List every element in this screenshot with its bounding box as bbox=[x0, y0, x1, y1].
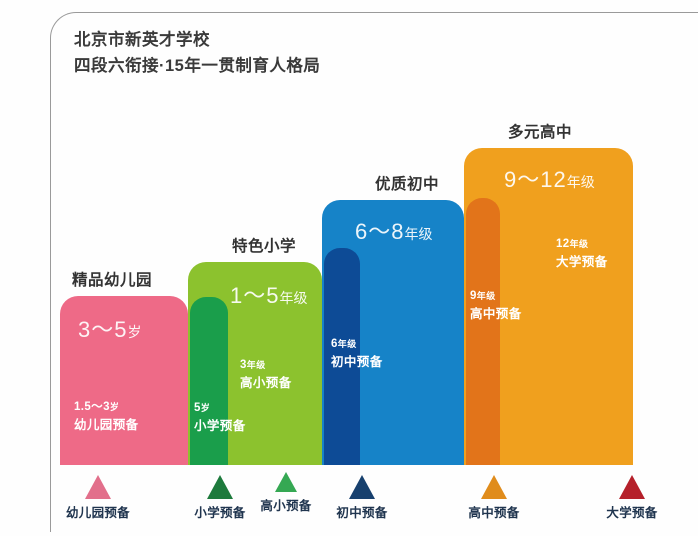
stage-note-grade-kindergarten: 1.5～3岁 bbox=[74, 399, 139, 416]
stage-note-label-kindergarten: 幼儿园预备 bbox=[74, 416, 139, 434]
stage-range-kindergarten: 3～5岁 bbox=[78, 312, 141, 344]
stage-heading-high: 多元高中 bbox=[508, 120, 572, 142]
prep-note-middle: 6年级 初中预备 bbox=[331, 336, 383, 371]
stage-range-unit-middle: 年级 bbox=[404, 226, 432, 242]
stage-range-value-high: 9～12 bbox=[504, 167, 567, 192]
marker-label-university-prep: 大学预备 bbox=[566, 502, 698, 521]
stage-range-unit-high: 年级 bbox=[567, 174, 595, 190]
triangle-icon-university-prep bbox=[619, 475, 645, 499]
triangle-icon-kindergarten-prep bbox=[85, 475, 111, 499]
stage-range-middle: 6～8年级 bbox=[355, 214, 432, 246]
title-line-school: 北京市新英才学校 bbox=[74, 28, 320, 54]
marker-high-prep[interactable]: 高中预备 bbox=[404, 475, 584, 521]
stage-range-unit-kindergarten: 岁 bbox=[127, 324, 141, 340]
stage-bar-kindergarten: 3～5岁 1.5～3岁 幼儿园预备 bbox=[60, 296, 188, 465]
prep-note-high: 9年级 高中预备 bbox=[470, 288, 522, 323]
triangle-icon-high-prep bbox=[481, 475, 507, 499]
stage-note-grade-high: 12年级 bbox=[556, 236, 608, 253]
stage-note-label-primary: 高小预备 bbox=[240, 374, 292, 392]
prep-note-grade-high: 9年级 bbox=[470, 288, 522, 305]
stage-range-value-kindergarten: 3～5 bbox=[78, 317, 127, 342]
triangle-icon-middle-prep bbox=[349, 475, 375, 499]
stage-range-high: 9～12年级 bbox=[504, 162, 595, 194]
prep-note-grade-primary: 5岁 bbox=[194, 400, 246, 417]
stage-note-primary: 3年级 高小预备 bbox=[240, 357, 292, 392]
stage-note-kindergarten: 1.5～3岁 幼儿园预备 bbox=[74, 399, 139, 434]
stage-range-primary: 1～5年级 bbox=[230, 278, 307, 310]
prep-note-label-high: 高中预备 bbox=[470, 305, 522, 323]
stage-range-value-primary: 1～5 bbox=[230, 283, 279, 308]
prep-strip-middle: 6年级 初中预备 bbox=[324, 248, 360, 465]
page-title: 北京市新英才学校 四段六衔接·15年一贯制育人格局 bbox=[74, 28, 320, 79]
stage-heading-middle: 优质初中 bbox=[375, 172, 439, 194]
stage-note-high: 12年级 大学预备 bbox=[556, 236, 608, 271]
stage-heading-primary: 特色小学 bbox=[232, 234, 296, 256]
prep-note-grade-middle: 6年级 bbox=[331, 336, 383, 353]
prep-note-label-primary: 小学预备 bbox=[194, 417, 246, 435]
prep-strip-primary: 5岁 小学预备 bbox=[190, 297, 228, 465]
infographic-canvas: 北京市新英才学校 四段六衔接·15年一贯制育人格局 精品幼儿园 3～5岁 1.5… bbox=[0, 0, 698, 536]
stage-note-label-high: 大学预备 bbox=[556, 253, 608, 271]
stage-heading-kindergarten: 精品幼儿园 bbox=[72, 268, 152, 290]
marker-label-high-prep: 高中预备 bbox=[404, 502, 584, 521]
stage-range-unit-primary: 年级 bbox=[279, 290, 307, 306]
stage-note-grade-primary: 3年级 bbox=[240, 357, 292, 374]
prep-note-primary: 5岁 小学预备 bbox=[194, 400, 246, 435]
prep-note-label-middle: 初中预备 bbox=[331, 353, 383, 371]
stage-range-value-middle: 6～8 bbox=[355, 219, 404, 244]
title-line-subtitle: 四段六衔接·15年一贯制育人格局 bbox=[74, 54, 320, 80]
marker-university-prep[interactable]: 大学预备 bbox=[566, 475, 698, 521]
prep-strip-high: 9年级 高中预备 bbox=[466, 198, 500, 465]
